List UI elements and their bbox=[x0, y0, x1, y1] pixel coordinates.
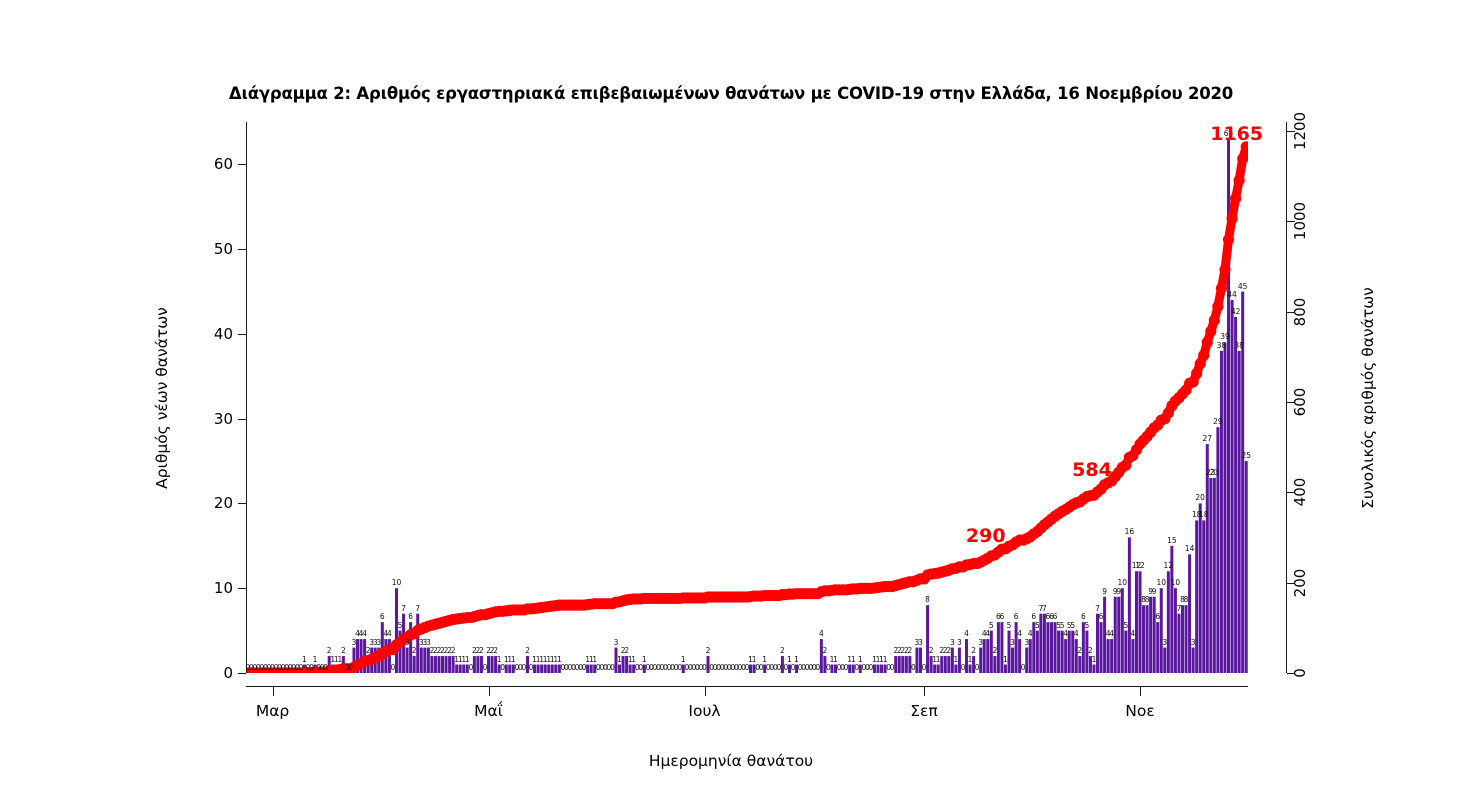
bar bbox=[462, 665, 465, 673]
bar-value-label: 2 bbox=[822, 647, 827, 655]
bar-value-label: 6 bbox=[1000, 613, 1005, 621]
bar bbox=[1092, 665, 1095, 673]
bar-value-label: 1 bbox=[858, 656, 863, 664]
bar bbox=[441, 656, 444, 673]
bar-value-label: 0 bbox=[776, 664, 781, 672]
bar bbox=[1199, 503, 1202, 673]
bar-value-label: 0 bbox=[784, 664, 789, 672]
bar bbox=[423, 648, 426, 673]
cumulative-point bbox=[1237, 153, 1248, 164]
bar bbox=[618, 665, 621, 673]
chart-page: Διάγραμμα 2: Αριθμός εργαστηριακά επιβεβ… bbox=[0, 0, 1462, 798]
bar-value-label: 2 bbox=[907, 647, 912, 655]
y-axis-left: 0102030405060 bbox=[246, 122, 247, 673]
bar-value-label: 2 bbox=[971, 647, 976, 655]
bar-value-label: 1 bbox=[1092, 656, 1097, 664]
bar bbox=[1036, 631, 1039, 673]
bar bbox=[969, 665, 972, 673]
bar bbox=[937, 665, 940, 673]
bar bbox=[1202, 520, 1205, 673]
bar-value-label: 1 bbox=[642, 656, 647, 664]
bar bbox=[993, 656, 996, 673]
bar bbox=[1096, 614, 1099, 673]
bar bbox=[1131, 639, 1134, 673]
plot-area: 0000000000000000100100021112003444233364… bbox=[246, 122, 1248, 673]
bar-value-label: 0 bbox=[500, 664, 505, 672]
bar-value-label: 2 bbox=[1077, 647, 1082, 655]
bar bbox=[1064, 639, 1067, 673]
bar-value-label: 4 bbox=[1131, 630, 1136, 638]
bar-value-label: 4 bbox=[1074, 630, 1079, 638]
bar-value-label: 1 bbox=[1003, 656, 1008, 664]
bar-value-label: 3 bbox=[957, 639, 962, 647]
bar-value-label: 2 bbox=[780, 647, 785, 655]
bar bbox=[1209, 478, 1212, 673]
bar bbox=[455, 665, 458, 673]
cumulative-point bbox=[1202, 337, 1213, 348]
cumulative-annotation: 290 bbox=[966, 527, 1006, 546]
bar bbox=[1206, 444, 1209, 673]
bar-value-label: 4 bbox=[1063, 630, 1068, 638]
bar bbox=[1043, 614, 1046, 673]
bar bbox=[1156, 622, 1159, 673]
bar-value-label: 3 bbox=[426, 639, 431, 647]
bar bbox=[1100, 622, 1103, 673]
bar-value-label: 0 bbox=[815, 664, 820, 672]
bar bbox=[459, 665, 462, 673]
bar-value-label: 4 bbox=[819, 630, 824, 638]
y-axis-left-tick-label: 40 bbox=[214, 325, 233, 343]
bar-value-label: 12 bbox=[1164, 562, 1174, 570]
bar bbox=[1050, 622, 1053, 673]
bar-value-label: 9 bbox=[1116, 588, 1121, 596]
bar bbox=[1174, 588, 1177, 673]
bar bbox=[898, 656, 901, 673]
bar-value-label: 2 bbox=[946, 647, 951, 655]
bar-value-label: 7 bbox=[1095, 605, 1100, 613]
bar bbox=[880, 665, 883, 673]
bar bbox=[1142, 605, 1145, 673]
bar-value-label: 6 bbox=[1081, 613, 1086, 621]
bar bbox=[1011, 648, 1014, 673]
x-axis-tick-label: Μαρ bbox=[256, 702, 289, 720]
bar bbox=[1139, 571, 1142, 673]
y-axis-left-title: Αριθμός νέων θανάτων bbox=[152, 122, 172, 673]
bar-value-label: 1 bbox=[936, 656, 941, 664]
bar bbox=[1223, 342, 1226, 673]
bar-value-label: 0 bbox=[854, 664, 859, 672]
bar-value-label: 14 bbox=[1185, 545, 1195, 553]
bar-value-label: 6 bbox=[1014, 613, 1019, 621]
bar bbox=[434, 656, 437, 673]
y-axis-left-tick-label: 10 bbox=[214, 579, 233, 597]
bar-value-label: 3 bbox=[918, 639, 923, 647]
bar bbox=[491, 656, 494, 673]
bar-value-label: 5 bbox=[989, 622, 994, 630]
bar bbox=[1234, 317, 1237, 673]
bar bbox=[1121, 588, 1124, 673]
bar-value-label: 1 bbox=[787, 656, 792, 664]
bar-value-label: 29 bbox=[1213, 418, 1223, 426]
bar-value-label: 1 bbox=[511, 656, 516, 664]
bar bbox=[1167, 571, 1170, 673]
bar-value-label: 38 bbox=[1217, 342, 1227, 350]
x-axis-tick bbox=[924, 687, 925, 696]
y-axis-right-tick-label: 600 bbox=[1291, 388, 1309, 417]
bar-value-label: 1 bbox=[497, 656, 502, 664]
bar-value-label: 0 bbox=[844, 664, 849, 672]
y-axis-left-tick-label: 20 bbox=[214, 494, 233, 512]
bar bbox=[1149, 597, 1152, 673]
bar bbox=[1192, 648, 1195, 673]
bar-value-label: 1 bbox=[968, 656, 973, 664]
y-axis-right-title: Συνολικός αριθμός θανάτων bbox=[1358, 122, 1378, 673]
x-axis-tick-label: Μαΐ bbox=[474, 702, 503, 720]
bar-value-label: 2 bbox=[451, 647, 456, 655]
x-axis-tick bbox=[489, 687, 490, 696]
bar bbox=[629, 665, 632, 673]
x-axis-tick-label: Νοε bbox=[1125, 702, 1154, 720]
y-axis-right-tick-label: 800 bbox=[1291, 297, 1309, 326]
bar-value-label: 1 bbox=[883, 656, 888, 664]
bar-value-label: 0 bbox=[961, 664, 966, 672]
bar bbox=[1160, 588, 1163, 673]
bar bbox=[1135, 571, 1138, 673]
bar bbox=[1177, 614, 1180, 673]
bar-value-label: 8 bbox=[1145, 596, 1150, 604]
bar bbox=[1188, 554, 1191, 673]
bar-value-label: 5 bbox=[1070, 622, 1075, 630]
bar-value-label: 0 bbox=[975, 664, 980, 672]
bar-value-label: 4 bbox=[1109, 630, 1114, 638]
bar-value-label: 0 bbox=[638, 664, 643, 672]
bar-value-label: 2 bbox=[929, 647, 934, 655]
y-axis-left-tick bbox=[238, 334, 246, 335]
bar bbox=[544, 665, 547, 673]
x-axis-tick bbox=[273, 687, 274, 696]
bar-value-label: 4 bbox=[362, 630, 367, 638]
bar-value-label: 7 bbox=[1177, 605, 1182, 613]
bar bbox=[508, 665, 511, 673]
bar-value-label: 9 bbox=[1102, 588, 1107, 596]
bar-value-label: 1 bbox=[592, 656, 597, 664]
bar-value-label: 27 bbox=[1202, 435, 1212, 443]
bar-value-label: 0 bbox=[869, 664, 874, 672]
bar bbox=[420, 648, 423, 673]
bar-value-label: 0 bbox=[309, 664, 314, 672]
bar-value-label: 5 bbox=[1060, 622, 1065, 630]
bar-value-label: 0 bbox=[522, 664, 527, 672]
bar-value-label: 4 bbox=[985, 630, 990, 638]
bar-value-label: 0 bbox=[922, 664, 927, 672]
bar-value-label: 1 bbox=[762, 656, 767, 664]
bar bbox=[1213, 478, 1216, 673]
bar bbox=[1185, 605, 1188, 673]
cumulative-point bbox=[1223, 234, 1234, 245]
bar bbox=[1057, 631, 1060, 673]
bar bbox=[437, 656, 440, 673]
bar-value-label: 10 bbox=[392, 579, 402, 587]
bar-value-label: 1 bbox=[631, 656, 636, 664]
bar-value-label: 8 bbox=[1184, 596, 1189, 604]
y-axis-right-tick-label: 1200 bbox=[1291, 112, 1309, 150]
y-axis-right-tick-label: 0 bbox=[1291, 668, 1309, 678]
y-axis-right-tick-label: 200 bbox=[1291, 568, 1309, 597]
x-axis-tick-label: Ιουλ bbox=[688, 702, 720, 720]
bar bbox=[554, 665, 557, 673]
bar-value-label: 0 bbox=[677, 664, 682, 672]
bar-value-label: 0 bbox=[745, 664, 750, 672]
bar bbox=[1195, 520, 1198, 673]
bar-value-label: 7 bbox=[1042, 605, 1047, 613]
y-axis-right: 020040060080010001200 bbox=[1286, 122, 1287, 673]
bar-value-label: 2 bbox=[624, 647, 629, 655]
bar-value-label: 0 bbox=[529, 664, 534, 672]
bar-value-label: 4 bbox=[1017, 630, 1022, 638]
y-axis-right-tick-label: 400 bbox=[1291, 478, 1309, 507]
bar-value-label: 2 bbox=[992, 647, 997, 655]
bar bbox=[1163, 648, 1166, 673]
bar-value-label: 0 bbox=[791, 664, 796, 672]
bar-value-label: 6 bbox=[1031, 613, 1036, 621]
bar-value-label: 9 bbox=[1152, 588, 1157, 596]
bar bbox=[1220, 351, 1223, 673]
bar bbox=[1128, 537, 1131, 673]
bar-value-label: 2 bbox=[412, 647, 417, 655]
bar-value-label: 45 bbox=[1238, 283, 1248, 291]
bar-value-label: 0 bbox=[1021, 664, 1026, 672]
plot-region: 0000000000000000100100021112003444233364… bbox=[246, 122, 1248, 673]
y-axis-left-tick bbox=[238, 249, 246, 250]
bar-value-label: 3 bbox=[376, 639, 381, 647]
bar-value-label: 7 bbox=[401, 605, 406, 613]
bar-value-label: 0 bbox=[391, 664, 396, 672]
bar-value-label: 1 bbox=[752, 656, 757, 664]
bar-value-label: 5 bbox=[398, 622, 403, 630]
cumulative-point bbox=[1191, 368, 1202, 379]
bar-value-label: 44 bbox=[1227, 291, 1237, 299]
bar bbox=[1110, 639, 1113, 673]
bar-value-label: 2 bbox=[1088, 647, 1093, 655]
cumulative-point bbox=[1230, 193, 1241, 204]
bar bbox=[954, 665, 957, 673]
bar-value-label: 4 bbox=[387, 630, 392, 638]
chart-canvas bbox=[246, 122, 1248, 673]
y-axis-right-tick-label: 1000 bbox=[1291, 202, 1309, 240]
cumulative-point bbox=[1226, 213, 1237, 224]
bar-value-label: 0 bbox=[468, 664, 473, 672]
bar-value-label: 3 bbox=[352, 639, 357, 647]
bar-value-label: 1 bbox=[557, 656, 562, 664]
bar bbox=[1046, 622, 1049, 673]
cumulative-point bbox=[1234, 175, 1245, 186]
bar-value-label: 4 bbox=[1028, 630, 1033, 638]
bar bbox=[901, 656, 904, 673]
bar-value-label: 1 bbox=[954, 656, 959, 664]
bar bbox=[537, 665, 540, 673]
bar-value-label: 0 bbox=[348, 664, 353, 672]
cumulative-point bbox=[1219, 264, 1230, 275]
bar-value-label: 10 bbox=[1171, 579, 1181, 587]
page-title: Διάγραμμα 2: Αριθμός εργαστηριακά επιβεβ… bbox=[0, 84, 1462, 103]
x-axis-title: Ημερομηνία θανάτου bbox=[0, 752, 1462, 770]
bar-value-label: 25 bbox=[1241, 452, 1251, 460]
bar-value-label: 3 bbox=[1162, 639, 1167, 647]
bar bbox=[1245, 461, 1248, 673]
bar-value-label: 2 bbox=[706, 647, 711, 655]
y-axis-left-tick-label: 60 bbox=[214, 155, 233, 173]
y-axis-left-tick bbox=[238, 588, 246, 589]
bar-value-label: 6 bbox=[408, 613, 413, 621]
bar-value-label: 1 bbox=[851, 656, 856, 664]
bar-value-label: 3 bbox=[950, 639, 955, 647]
bar-value-label: 3 bbox=[405, 639, 410, 647]
bar bbox=[547, 665, 550, 673]
bar bbox=[476, 656, 479, 673]
bar-value-label: 3 bbox=[1191, 639, 1196, 647]
x-axis-tick-label: Σεπ bbox=[910, 702, 938, 720]
bar-value-label: 1 bbox=[617, 656, 622, 664]
bar-value-label: 5 bbox=[1123, 622, 1128, 630]
bar-value-label: 18 bbox=[1199, 511, 1209, 519]
bar-value-label: 7 bbox=[415, 605, 420, 613]
bar bbox=[1075, 639, 1078, 673]
bar bbox=[933, 665, 936, 673]
bar bbox=[448, 656, 451, 673]
bar bbox=[406, 648, 409, 673]
bar-value-label: 0 bbox=[702, 664, 707, 672]
bar bbox=[1181, 605, 1184, 673]
bar-value-label: 2 bbox=[525, 647, 530, 655]
bar-value-label: 1 bbox=[465, 656, 470, 664]
bar-value-label: 10 bbox=[1118, 579, 1128, 587]
y-axis-left-tick bbox=[238, 673, 246, 674]
bar bbox=[413, 656, 416, 673]
bar-value-label: 16 bbox=[1125, 528, 1135, 536]
bar bbox=[540, 665, 543, 673]
bar-value-label: 20 bbox=[1195, 494, 1205, 502]
bar-value-label: 15 bbox=[1167, 537, 1177, 545]
bar-value-label: 0 bbox=[582, 664, 587, 672]
bar-value-label: 0 bbox=[323, 664, 328, 672]
bar bbox=[877, 665, 880, 673]
y-axis-left-tick-label: 30 bbox=[214, 410, 233, 428]
bar-value-label: 3 bbox=[978, 639, 983, 647]
cumulative-point bbox=[1198, 350, 1209, 361]
cumulative-point bbox=[1209, 315, 1220, 326]
y-axis-left-tick bbox=[238, 419, 246, 420]
bar-value-label: 0 bbox=[298, 664, 303, 672]
bar-value-label: 0 bbox=[610, 664, 615, 672]
bar-value-label: 6 bbox=[1053, 613, 1058, 621]
y-axis-left-tick-label: 50 bbox=[214, 240, 233, 258]
bar-value-label: 2 bbox=[493, 647, 498, 655]
bar bbox=[1124, 631, 1127, 673]
bar-value-label: 2 bbox=[366, 647, 371, 655]
bar-value-label: 0 bbox=[890, 664, 895, 672]
bar bbox=[1000, 622, 1003, 673]
bar-value-label: 0 bbox=[483, 664, 488, 672]
bar bbox=[1004, 665, 1007, 673]
bar-value-label: 38 bbox=[1234, 342, 1244, 350]
cumulative-point bbox=[1212, 301, 1223, 312]
bar bbox=[1231, 300, 1234, 673]
bar-value-label: 6 bbox=[1155, 613, 1160, 621]
bar-value-label: 1 bbox=[833, 656, 838, 664]
bar bbox=[1107, 639, 1110, 673]
bar bbox=[1117, 597, 1120, 673]
bar-value-label: 42 bbox=[1231, 308, 1241, 316]
bar-value-label: 5 bbox=[1085, 622, 1090, 630]
y-axis-left-tick bbox=[238, 164, 246, 165]
bar-value-label: 2 bbox=[341, 647, 346, 655]
bar bbox=[1078, 656, 1081, 673]
bar-value-label: 3 bbox=[1010, 639, 1015, 647]
y-axis-left-tick-label: 0 bbox=[223, 664, 233, 682]
bar-value-label: 2 bbox=[479, 647, 484, 655]
bar-value-label: 4 bbox=[964, 630, 969, 638]
bar-value-label: 1 bbox=[794, 656, 799, 664]
bar bbox=[590, 665, 593, 673]
bar bbox=[1153, 597, 1156, 673]
bar bbox=[905, 656, 908, 673]
bar-value-label: 1 bbox=[681, 656, 686, 664]
bar bbox=[430, 656, 433, 673]
bar-value-label: 3 bbox=[1024, 639, 1029, 647]
bar bbox=[1054, 622, 1057, 673]
bar bbox=[1238, 351, 1241, 673]
x-axis-tick bbox=[705, 687, 706, 696]
bar-value-label: 5 bbox=[1007, 622, 1012, 630]
y-axis-left-tick bbox=[238, 503, 246, 504]
cumulative-annotation: 1165 bbox=[1210, 125, 1263, 144]
bar-value-label: 1 bbox=[313, 656, 318, 664]
bar-value-label: 1 bbox=[302, 656, 307, 664]
x-axis: ΜαρΜαΐΙουλΣεπΝοε bbox=[246, 686, 1248, 687]
bar bbox=[1146, 605, 1149, 673]
bar bbox=[395, 588, 398, 673]
bar bbox=[1216, 427, 1219, 673]
bar-value-label: 39 bbox=[1220, 333, 1230, 341]
bar-value-label: 0 bbox=[911, 664, 916, 672]
cumulative-point bbox=[1205, 326, 1216, 337]
bar-value-label: 8 bbox=[925, 596, 930, 604]
cumulative-point bbox=[1216, 283, 1227, 294]
bar-value-label: 1 bbox=[337, 656, 342, 664]
bar bbox=[986, 639, 989, 673]
cumulative-annotation: 584 bbox=[1072, 461, 1112, 480]
bar-value-label: 0 bbox=[759, 664, 764, 672]
y-axis-right-title-text: Συνολικός αριθμός θανάτων bbox=[1359, 287, 1377, 509]
bar bbox=[551, 665, 554, 673]
bar-value-label: 0 bbox=[826, 664, 831, 672]
bar-value-label: 6 bbox=[1099, 613, 1104, 621]
bar bbox=[947, 656, 950, 673]
bar bbox=[944, 656, 947, 673]
bar-value-label: 12 bbox=[1135, 562, 1145, 570]
bar-value-label: 6 bbox=[380, 613, 385, 621]
bar-value-label: 3 bbox=[614, 639, 619, 647]
y-axis-left-title-text: Αριθμός νέων θανάτων bbox=[153, 307, 171, 489]
bar-value-label: 2 bbox=[327, 647, 332, 655]
bar bbox=[445, 656, 448, 673]
bar-value-label: 10 bbox=[1156, 579, 1166, 587]
bar-value-label: 5 bbox=[1035, 622, 1040, 630]
bar-value-label: 23 bbox=[1210, 469, 1220, 477]
x-axis-tick bbox=[1140, 687, 1141, 696]
